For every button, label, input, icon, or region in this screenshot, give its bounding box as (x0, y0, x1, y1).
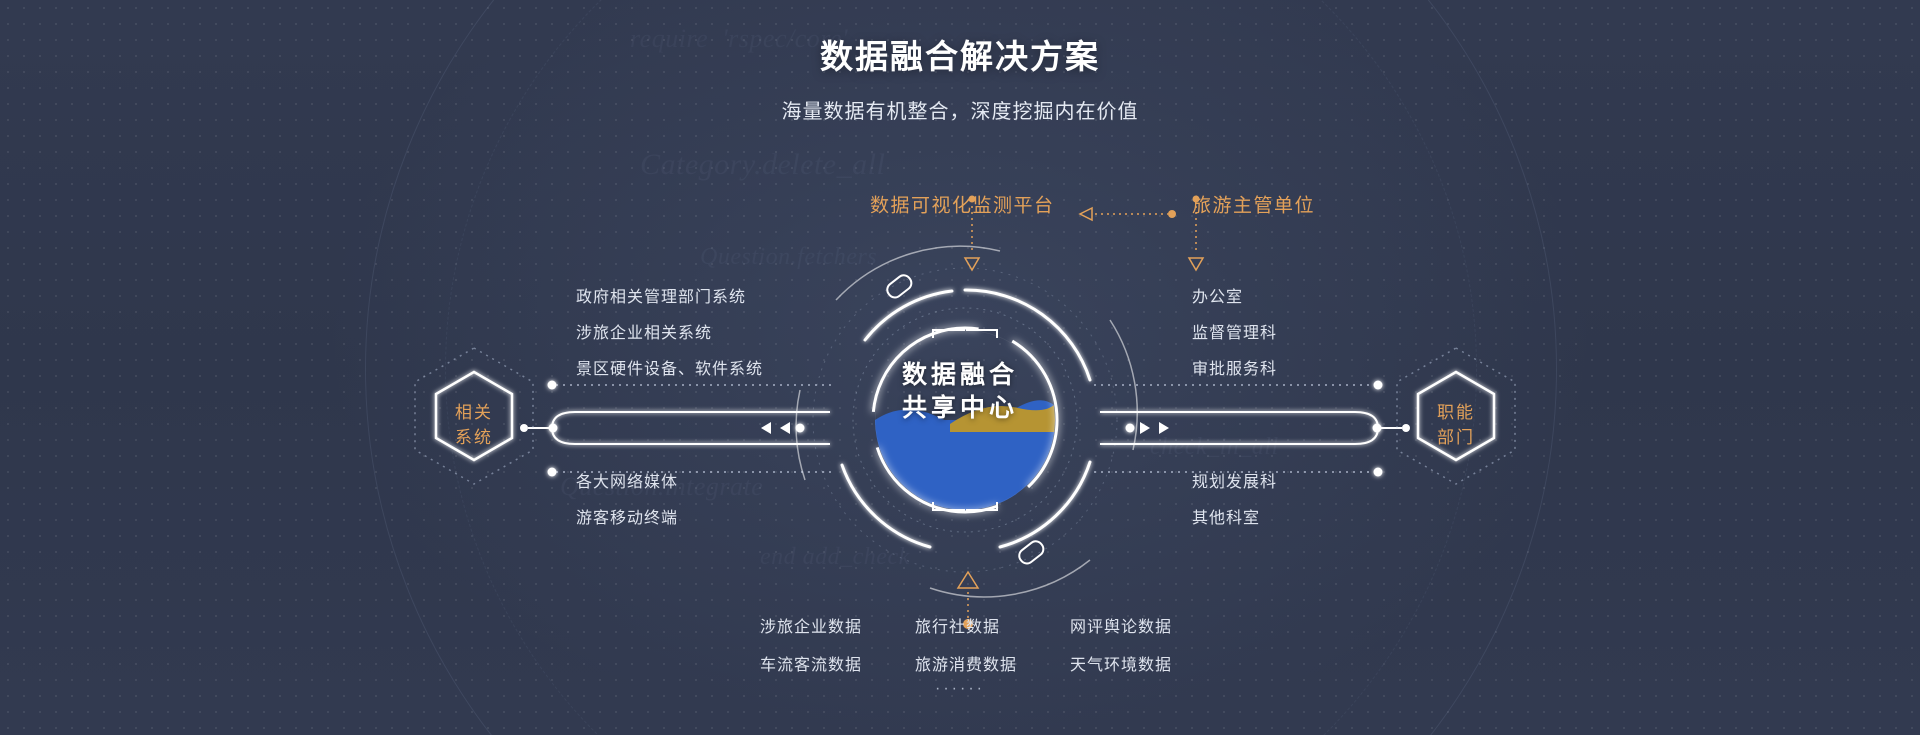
core-hub (796, 246, 1137, 597)
right-item-office[interactable]: 办公室 (1192, 283, 1243, 307)
core-bracket-tr (966, 330, 997, 338)
bottom-item-tourism-enterprise-data[interactable]: 涉旅企业数据 (760, 613, 862, 637)
right-connector (1094, 381, 1410, 477)
left-dot-node (796, 424, 805, 433)
right-dot-joint (1373, 424, 1382, 433)
left-item-scenic-hardware-software[interactable]: 景区硬件设备、软件系统 (576, 355, 763, 379)
infographic-canvas: require 'rspec/core' Category.delete_all… (0, 0, 1920, 735)
hex-right-label[interactable]: 职能 部门 (1396, 400, 1516, 450)
right-item-other-depts[interactable]: 其他科室 (1192, 504, 1260, 528)
core-outer-arc-4 (796, 390, 805, 480)
left-item-government-systems[interactable]: 政府相关管理部门系统 (576, 283, 746, 307)
right-arrow-2 (1159, 422, 1169, 434)
hex-right-label-line2: 部门 (1396, 425, 1516, 450)
bottom-item-online-review-data[interactable]: 网评舆论数据 (1070, 613, 1172, 637)
core-arc-tr (965, 290, 1090, 380)
left-dot-top (548, 381, 557, 390)
core-outer-arc-1 (836, 246, 1000, 300)
top-link-dot (1168, 210, 1176, 218)
left-connector (520, 381, 836, 477)
core-chip-bottom (1016, 538, 1046, 566)
core-chip-top (884, 272, 914, 300)
right-dot-bottom (1374, 468, 1383, 477)
bottom-item-traffic-flow-data[interactable]: 车流客流数据 (760, 651, 862, 675)
left-arrow-2 (761, 422, 771, 434)
right-item-planning-development-dept[interactable]: 规划发展科 (1192, 468, 1277, 492)
top-node-link (1080, 208, 1176, 220)
right-item-approval-services-dept[interactable]: 审批服务科 (1192, 355, 1277, 379)
node-tourism-authority[interactable]: 旅游主管单位 (1192, 191, 1315, 218)
hex-right-label-line1: 职能 (1396, 400, 1516, 425)
arrow-head-down (1189, 258, 1203, 270)
right-item-supervision-dept[interactable]: 监督管理科 (1192, 319, 1277, 343)
left-item-tourism-enterprise-systems[interactable]: 涉旅企业相关系统 (576, 319, 712, 343)
bottom-ellipsis: ······ (0, 680, 1920, 698)
hex-left-label-line1: 相关 (414, 400, 534, 425)
left-item-tourist-mobile-terminal[interactable]: 游客移动终端 (576, 504, 678, 528)
right-arrow-1 (1140, 422, 1150, 434)
node-data-visualization-platform[interactable]: 数据可视化监测平台 (870, 191, 1055, 218)
right-dot-node (1126, 424, 1135, 433)
left-arrow-1 (780, 422, 790, 434)
bottom-item-tourism-consumption-data[interactable]: 旅游消费数据 (915, 651, 1017, 675)
arrow-head-up (958, 572, 978, 588)
top-link-arrowhead (1080, 208, 1092, 220)
left-dot-bottom (548, 468, 557, 477)
hex-left-label-line2: 系统 (414, 425, 534, 450)
bottom-item-weather-environment-data[interactable]: 天气环境数据 (1070, 651, 1172, 675)
bottom-item-travel-agency-data[interactable]: 旅行社数据 (915, 613, 1000, 637)
arrow-head-down (965, 258, 979, 270)
right-dot-top (1374, 381, 1383, 390)
hex-left-label[interactable]: 相关 系统 (414, 400, 534, 450)
left-item-network-media[interactable]: 各大网络媒体 (576, 468, 678, 492)
left-dot-joint (549, 424, 558, 433)
